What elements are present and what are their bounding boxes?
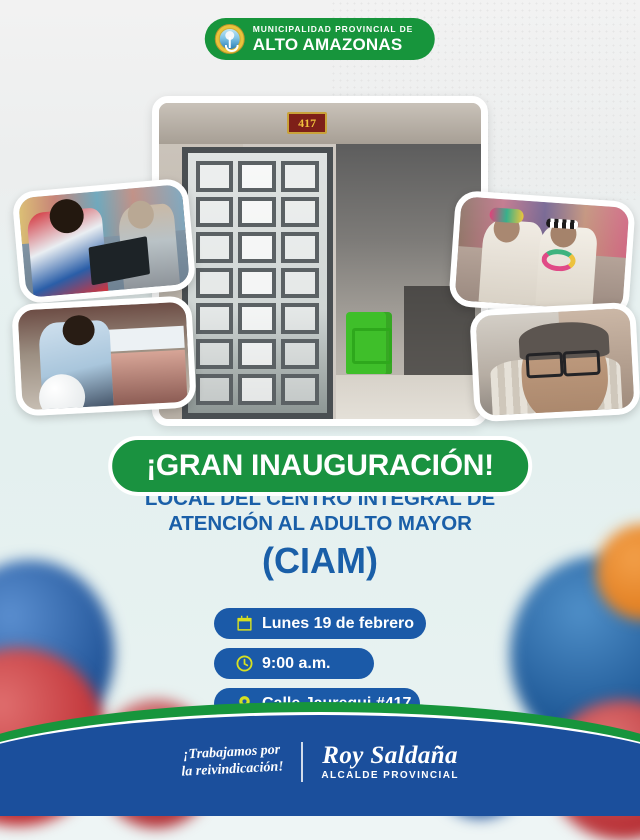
photo-registration-desk bbox=[11, 178, 196, 305]
clock-icon bbox=[236, 655, 253, 672]
coat-of-arms-icon bbox=[215, 24, 245, 54]
event-date-text: Lunes 19 de febrero bbox=[262, 615, 414, 633]
logo-line-1: MUNICIPALIDAD PROVINCIAL DE bbox=[253, 25, 413, 34]
mayor-signature: Roy Saldaña ALCALDE PROVINCIAL bbox=[321, 743, 458, 781]
subtitle-line-2: ATENCIÓN AL ADULTO MAYOR bbox=[0, 512, 640, 537]
footer-content: ¡Trabajamos por la reivindicación! Roy S… bbox=[0, 724, 640, 800]
logo-line-2: ALTO AMAZONAS bbox=[253, 36, 413, 53]
event-time-pill: 9:00 a.m. bbox=[214, 648, 374, 679]
mayor-name: Roy Saldaña bbox=[321, 743, 458, 768]
hero-photo-building-entrance: 417 bbox=[152, 96, 488, 426]
calendar-icon bbox=[236, 615, 253, 632]
subtitle-acronym: (CIAM) bbox=[0, 540, 640, 582]
green-chair bbox=[346, 312, 392, 374]
page-title: ¡GRAN INAUGURACIÓN! bbox=[146, 449, 494, 483]
address-plaque: 417 bbox=[287, 112, 327, 134]
event-date-pill: Lunes 19 de febrero bbox=[214, 608, 426, 639]
municipality-logo-banner: MUNICIPALIDAD PROVINCIAL DE ALTO AMAZONA… bbox=[205, 18, 435, 60]
mayor-role: ALCALDE PROVINCIAL bbox=[321, 770, 458, 781]
footer-slogan: ¡Trabajamos por la reivindicación! bbox=[180, 743, 284, 781]
footer-divider bbox=[301, 742, 303, 782]
photo-elders-traditional-dress bbox=[448, 190, 636, 318]
photo-mayor-greeting-elder bbox=[11, 295, 197, 416]
event-time-text: 9:00 a.m. bbox=[262, 655, 330, 673]
headline-banner: ¡GRAN INAUGURACIÓN! bbox=[108, 436, 532, 496]
photo-smiling-elder-man bbox=[469, 302, 640, 423]
